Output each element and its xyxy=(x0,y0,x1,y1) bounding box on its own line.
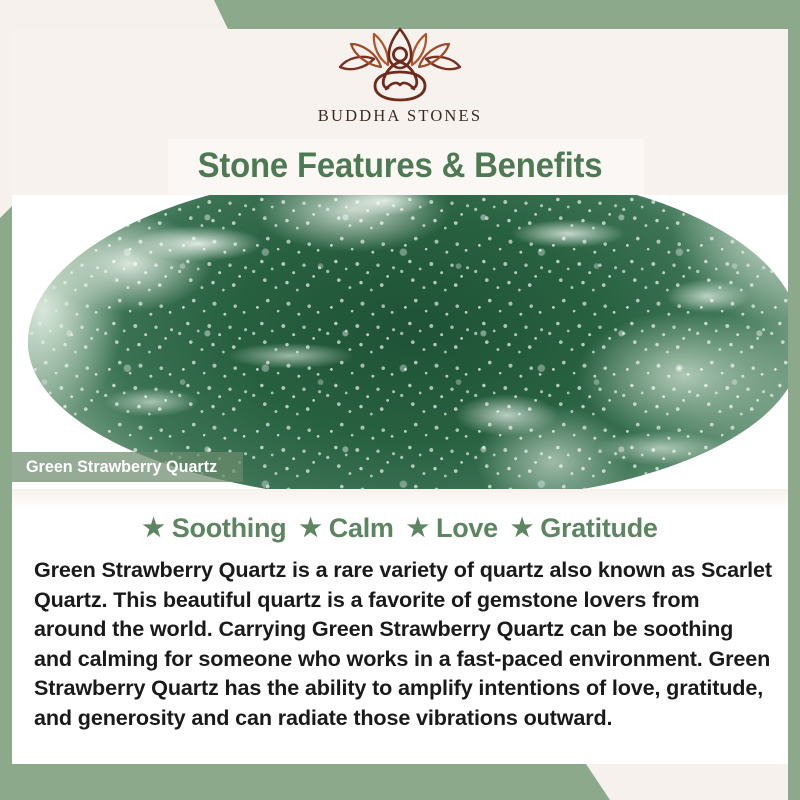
star-icon: ★ xyxy=(407,514,429,542)
keyword-label: Calm xyxy=(329,513,394,543)
stone-sparkle-layer-fine xyxy=(28,195,788,489)
keyword-label: Love xyxy=(436,513,498,543)
decorative-frame-left xyxy=(0,206,12,800)
image-caption-label: Green Strawberry Quartz xyxy=(26,457,217,477)
hero-image xyxy=(12,195,788,489)
lotus-meditation-figure-icon xyxy=(329,27,471,105)
brand-logo: BUDDHA STONES xyxy=(12,29,788,126)
image-caption-badge: Green Strawberry Quartz xyxy=(12,452,243,482)
keyword-label: Gratitude xyxy=(540,513,657,543)
star-icon: ★ xyxy=(511,514,533,542)
decorative-frame-right xyxy=(788,0,800,800)
page-title: Stone Features & Benefits xyxy=(35,139,764,195)
title-band: Stone Features & Benefits xyxy=(12,139,788,195)
star-icon: ★ xyxy=(142,514,164,542)
description-paragraph: Green Strawberry Quartz is a rare variet… xyxy=(34,555,774,732)
infographic-canvas: BUDDHA STONES Stone Features & Benefits … xyxy=(0,0,800,800)
keyword-list: ★Soothing★Calm★Love★Gratitude xyxy=(12,513,788,544)
stone-photo xyxy=(28,195,788,489)
stone-sparkle-layer-coarse xyxy=(28,195,788,489)
decorative-frame-bottom xyxy=(0,764,610,800)
header: BUDDHA STONES xyxy=(12,29,788,139)
stone-edge-highlight xyxy=(28,195,788,489)
brand-name: BUDDHA STONES xyxy=(318,106,482,126)
content-top-fade xyxy=(12,489,788,509)
content-panel: ★Soothing★Calm★Love★Gratitude Green Stra… xyxy=(12,489,788,764)
star-icon: ★ xyxy=(299,514,321,542)
stone-veins-layer xyxy=(28,195,788,489)
keyword-label: Soothing xyxy=(172,513,287,543)
